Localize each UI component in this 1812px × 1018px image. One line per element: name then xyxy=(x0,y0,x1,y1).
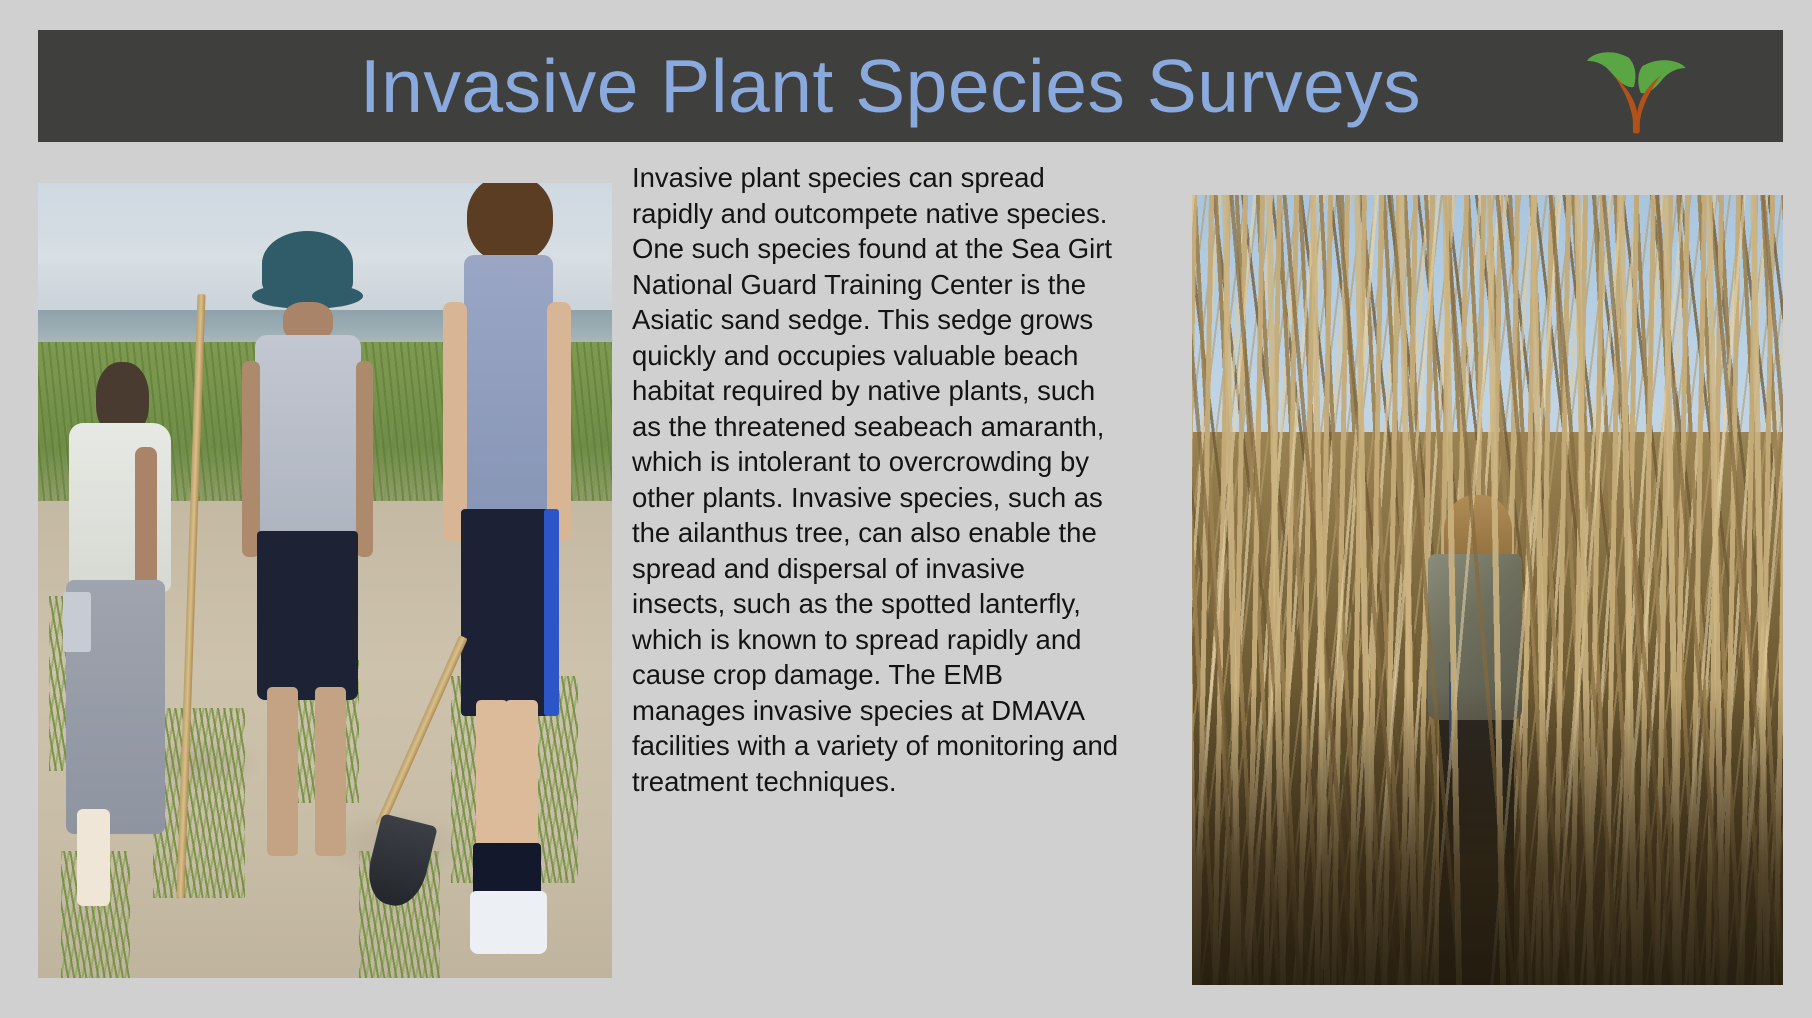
body-paragraph: Invasive plant species can spread rapidl… xyxy=(632,160,1122,799)
reed-shadow-region xyxy=(1192,685,1783,985)
page-title: Invasive Plant Species Surveys xyxy=(360,49,1461,124)
person-standing-right xyxy=(440,183,589,970)
title-bar: Invasive Plant Species Surveys xyxy=(38,30,1783,142)
sprout-icon xyxy=(1583,39,1688,134)
slide-canvas: Invasive Plant Species Surveys xyxy=(0,0,1812,1018)
phragmites-reed-survey-photo xyxy=(1192,195,1783,985)
beach-dune-survey-photo xyxy=(38,183,612,978)
person-standing-center xyxy=(245,231,371,883)
person-crouching xyxy=(49,326,187,930)
